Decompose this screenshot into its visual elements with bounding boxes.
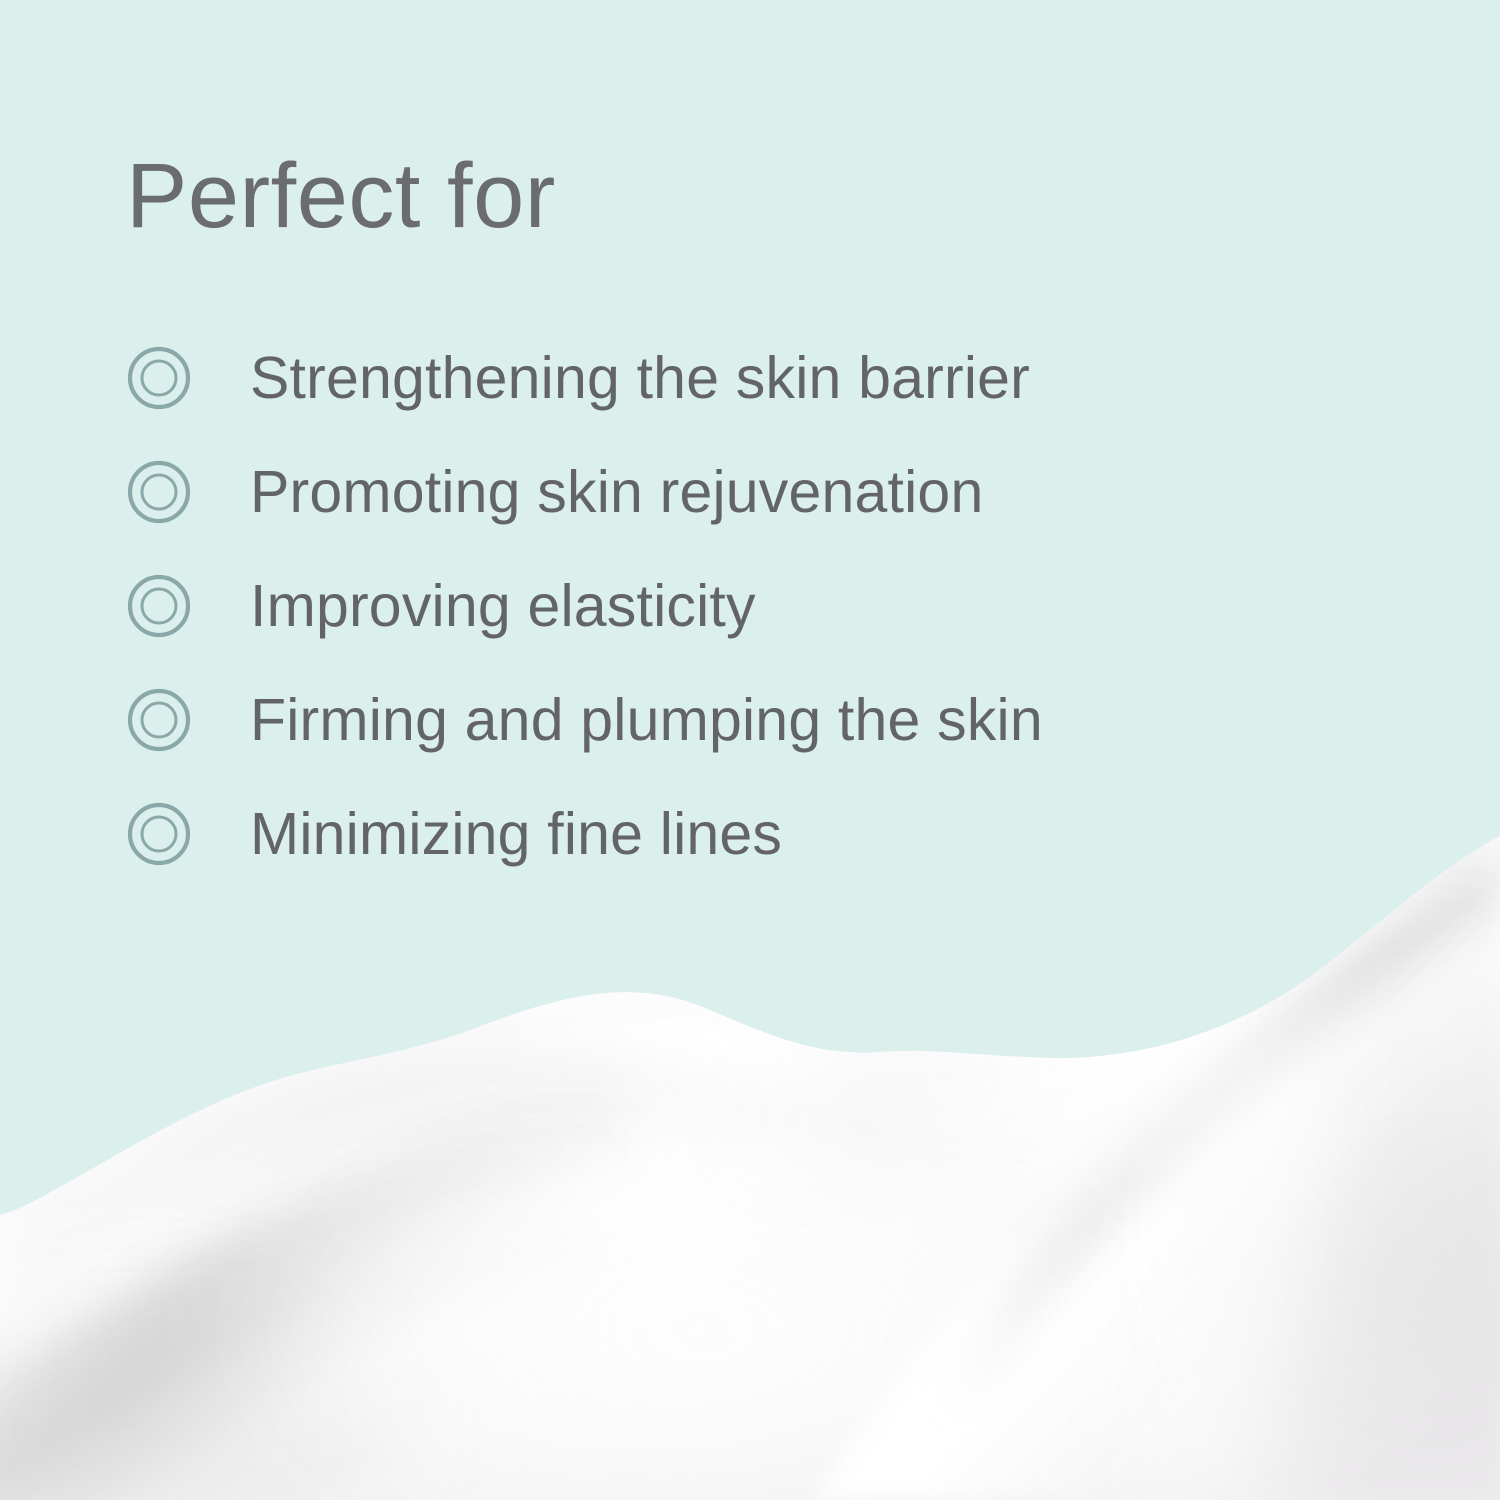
list-item: Strengthening the skin barrier xyxy=(126,344,1326,412)
list-item: Firming and plumping the skin xyxy=(126,686,1326,754)
list-item-label: Firming and plumping the skin xyxy=(250,691,1043,750)
page-title: Perfect for xyxy=(126,148,556,245)
double-circle-icon xyxy=(126,801,192,867)
product-benefits-panel: Perfect for Strengthening the skin barri… xyxy=(0,0,1500,1500)
double-circle-icon xyxy=(126,573,192,639)
list-item: Improving elasticity xyxy=(126,572,1326,640)
list-item: Promoting skin rejuvenation xyxy=(126,458,1326,526)
double-circle-icon xyxy=(126,459,192,525)
list-item-label: Improving elasticity xyxy=(250,577,756,636)
list-item-label: Strengthening the skin barrier xyxy=(250,349,1030,408)
list-item: Minimizing fine lines xyxy=(126,800,1326,868)
double-circle-icon xyxy=(126,345,192,411)
list-item-label: Promoting skin rejuvenation xyxy=(250,463,983,522)
list-item-label: Minimizing fine lines xyxy=(250,805,782,864)
benefit-list: Strengthening the skin barrier Promoting… xyxy=(126,344,1326,868)
double-circle-icon xyxy=(126,687,192,753)
